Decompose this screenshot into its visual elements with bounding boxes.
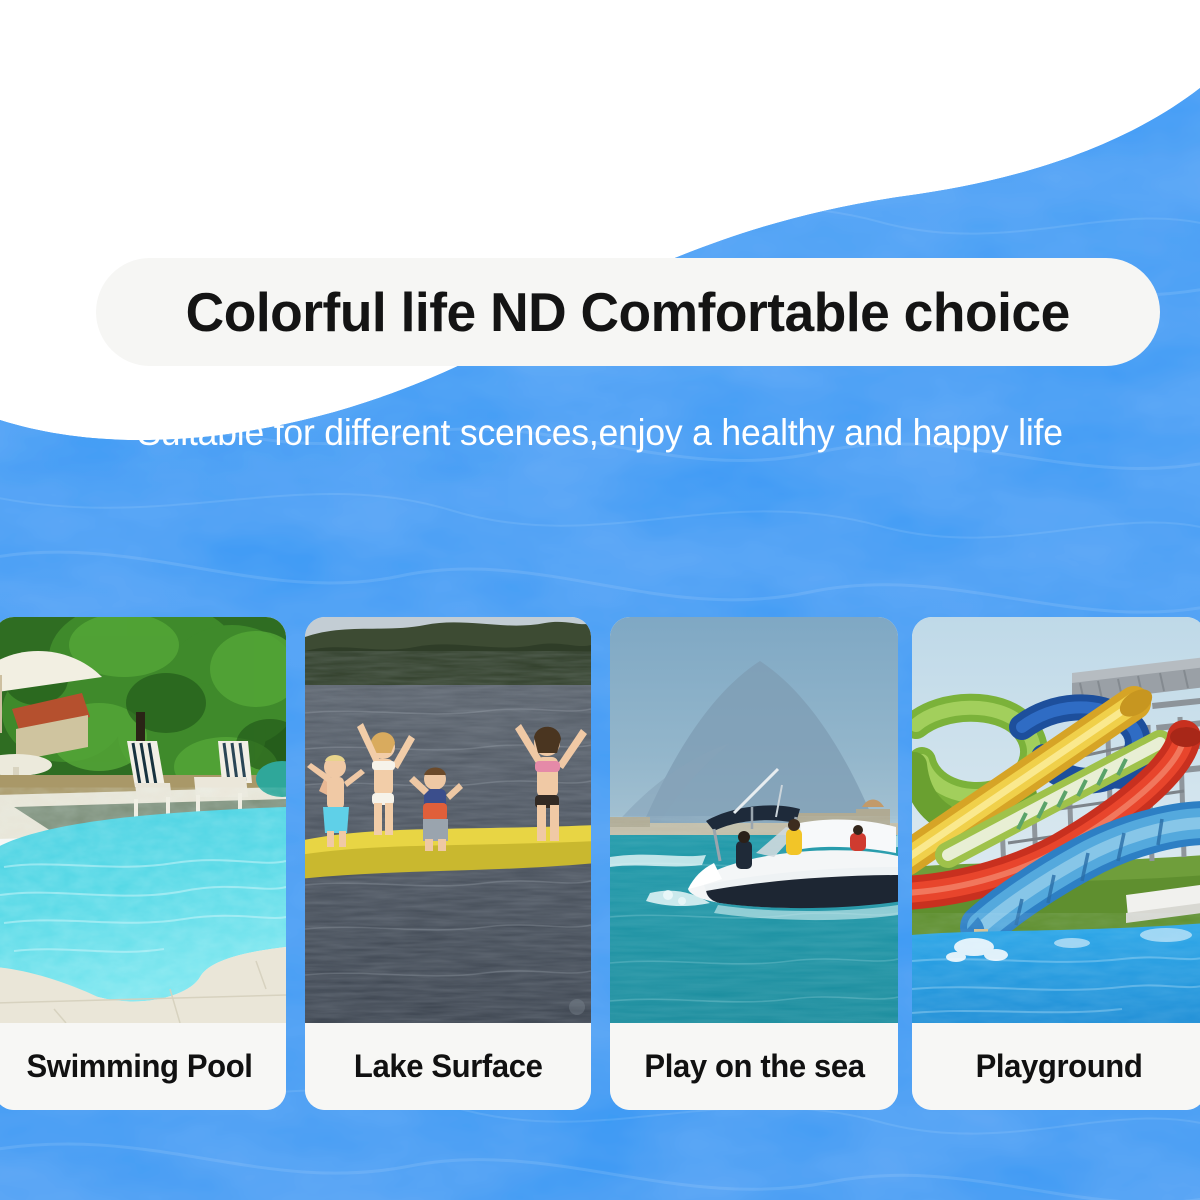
page-title: Colorful life ND Comfortable choice bbox=[186, 285, 1070, 340]
scene-label: Play on the sea bbox=[610, 1023, 898, 1110]
scene-card-play-on-the-sea[interactable]: Play on the sea bbox=[610, 617, 898, 1110]
play-on-the-sea-photo bbox=[610, 617, 898, 1023]
promo-poster: Colorful life ND Comfortable choice Suit… bbox=[0, 0, 1200, 1200]
scene-label: Playground bbox=[912, 1023, 1200, 1110]
swimming-pool-photo bbox=[0, 617, 286, 1023]
scene-label: Swimming Pool bbox=[0, 1023, 286, 1110]
scene-label: Lake Surface bbox=[305, 1023, 591, 1110]
lake-surface-photo bbox=[305, 617, 591, 1023]
scene-label-text: Play on the sea bbox=[644, 1048, 864, 1085]
scene-card-swimming-pool[interactable]: Swimming Pool bbox=[0, 617, 286, 1110]
scene-label-text: Lake Surface bbox=[354, 1048, 543, 1085]
headline-pill: Colorful life ND Comfortable choice bbox=[96, 258, 1160, 366]
scene-label-text: Playground bbox=[976, 1048, 1143, 1085]
scene-card-playground[interactable]: Playground bbox=[912, 617, 1200, 1110]
scene-cards: Swimming Pool bbox=[0, 617, 1200, 1110]
playground-photo bbox=[912, 617, 1200, 1023]
scene-label-text: Swimming Pool bbox=[27, 1048, 253, 1085]
subtitle-text: Suitable for different scences,enjoy a h… bbox=[24, 412, 1176, 454]
scene-card-lake-surface[interactable]: Lake Surface bbox=[305, 617, 591, 1110]
